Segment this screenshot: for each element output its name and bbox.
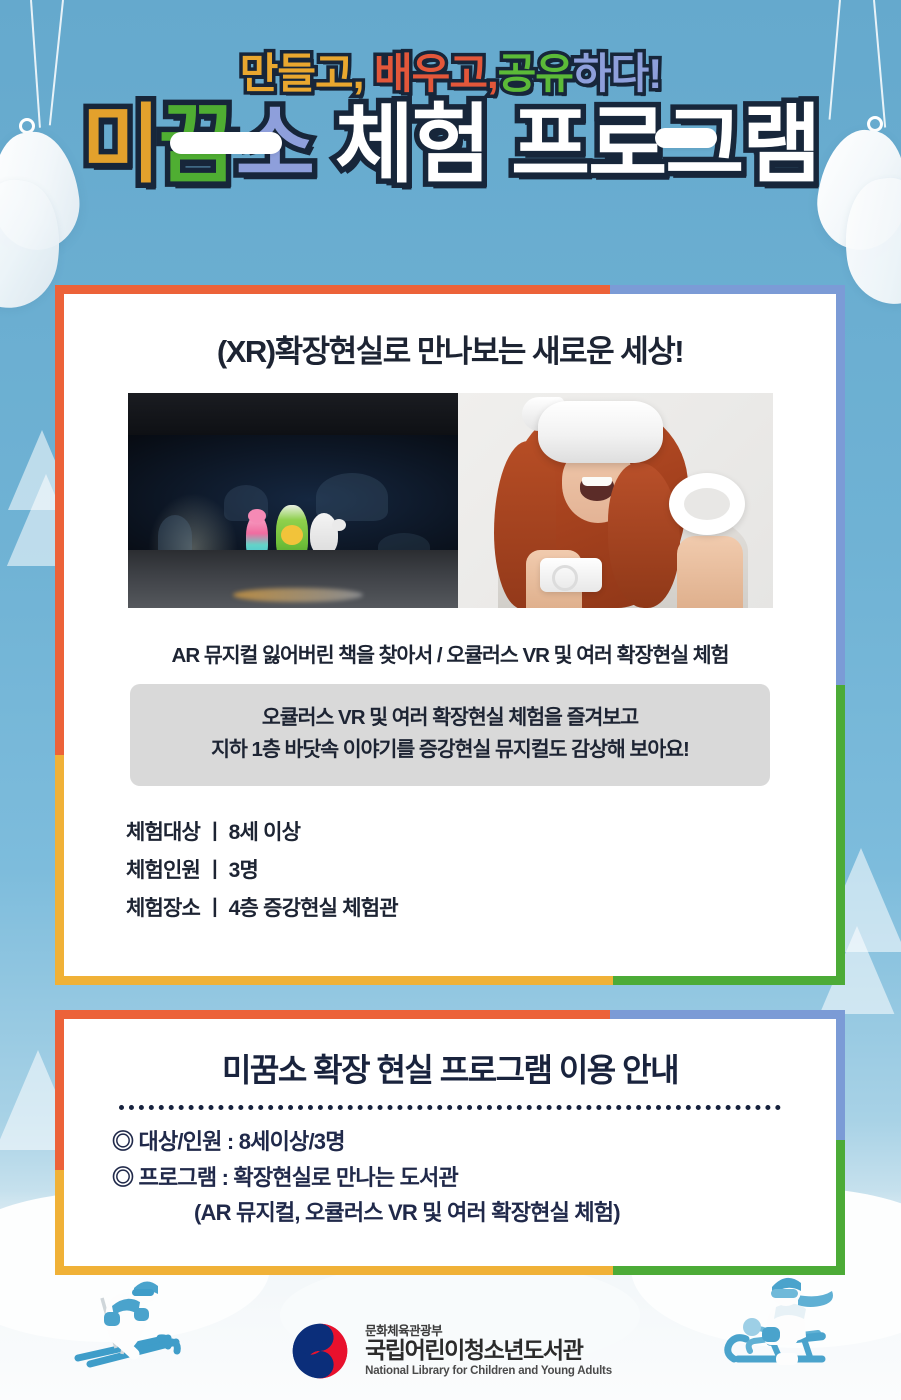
usage-info-card: 미꿈소 확장 현실 프로그램 이용 안내 ◎ 대상/인원 : 8세이상/3명 ◎… [55,1010,845,1275]
ar-musical-photo [128,393,458,608]
vr-controller-left [540,558,602,592]
poster-kicker: 만들고, 배우고,공유하다! [0,52,901,96]
poster-title-block: 만들고, 배우고,공유하다! 미꿈소 체험 프로그램 [0,52,901,188]
kicker-part-3: 공유 [498,50,573,97]
info-item-program-detail: (AR 뮤지컬, 오큘러스 VR 및 여러 확장현실 체험) [112,1195,836,1231]
card-edge-top-right [610,285,845,294]
footer-logo-block: 문화체육관광부 국립어린이청소년도서관 National Library for… [0,1320,901,1382]
card-edge-top-left [55,285,610,294]
xr-program-card: (XR)확장현실로 만나보는 새로운 세상! [55,285,845,985]
photo-gallery [128,393,773,608]
kicker-part-4: 하다! [573,50,661,97]
card-edge-right-top [836,1010,845,1140]
card-edge-left-top [55,285,64,755]
info-bullet-list: ◎ 대상/인원 : 8세이상/3명 ◎ 프로그램 : 확장현실로 만나는 도서관… [112,1124,836,1231]
meta-location: 체험장소 ㅣ 4층 증강현실 체험관 [126,890,836,928]
card-edge-left-bottom [55,1170,64,1275]
kicker-part-2: 배우고, [374,50,498,97]
info-item-program: ◎ 프로그램 : 확장현실로 만나는 도서관 [112,1160,836,1196]
kicker-part-1: 만들고, [240,50,364,97]
vr-right-hand [677,536,743,608]
snow-cap-decoration [655,128,717,148]
info-card-body: 미꿈소 확장 현실 프로그램 이용 안내 ◎ 대상/인원 : 8세이상/3명 ◎… [64,1019,836,1266]
card-edge-right-bottom [836,685,845,985]
xr-heading: (XR)확장현실로 만나보는 새로운 세상! [64,326,836,371]
stage-reflection [233,588,363,602]
library-name-kr: 국립어린이청소년도서관 [365,1338,612,1364]
program-meta-list: 체험대상 ㅣ 8세 이상 체험인원 ㅣ 3명 체험장소 ㅣ 4층 증강현실 체험… [126,814,836,929]
card-edge-right-top [836,285,845,685]
library-name-en: National Library for Children and Young … [365,1365,612,1378]
xr-card-body: (XR)확장현실로 만나보는 새로운 세상! [64,294,836,976]
card-edge-left-top [55,1010,64,1170]
note-line-1: 오큘러스 VR 및 여러 확장현실 체험을 즐겨보고 [140,702,760,734]
title-part-4: 체험 프로그램 [313,97,820,193]
dotted-divider [119,1105,781,1110]
meta-target: 체험대상 ㅣ 8세 이상 [126,814,836,852]
card-edge-top-left [55,1010,610,1019]
logo-text-block: 문화체육관광부 국립어린이청소년도서관 National Library for… [365,1324,612,1379]
taeguk-logo-icon [289,1320,351,1382]
vr-person-mouth [580,477,614,501]
page-title: 미꿈소 체험 프로그램 [0,102,901,188]
snow-cap-decoration [170,132,282,154]
info-title: 미꿈소 확장 현실 프로그램 이용 안내 [64,1045,836,1091]
card-edge-left-bottom [55,755,64,985]
meta-capacity: 체험인원 ㅣ 3명 [126,852,836,890]
card-edge-bottom-left [55,1266,613,1275]
info-item-target: ◎ 대상/인원 : 8세이상/3명 [112,1124,836,1160]
stage-ceiling [128,393,458,439]
card-edge-top-right [610,1010,845,1019]
title-part-1: 미 [82,97,159,193]
card-edge-bottom-left [55,976,613,985]
vr-headset-icon [538,401,663,463]
vr-controller-right [669,473,745,535]
card-edge-bottom-right [613,976,845,985]
card-edge-right-bottom [836,1140,845,1275]
note-line-2: 지하 1층 바닷속 이야기를 증강현실 뮤지컬도 감상해 보아요! [140,734,760,766]
ministry-name: 문화체육관광부 [365,1324,612,1338]
program-note-box: 오큘러스 VR 및 여러 확장현실 체험을 즐겨보고 지하 1층 바닷속 이야기… [130,684,770,786]
vr-headset-photo [458,393,773,608]
seal-character [310,513,338,555]
program-caption: AR 뮤지컬 잃어버린 책을 찾아서 / 오큘러스 VR 및 여러 확장현실 체… [64,638,836,668]
